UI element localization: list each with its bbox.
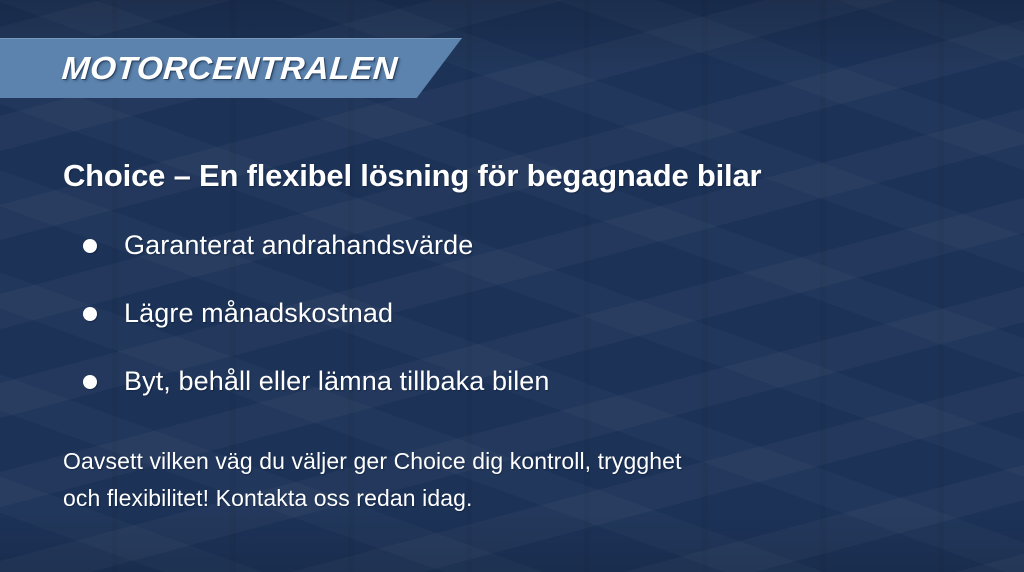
closing-paragraph: Oavsett vilken väg du väljer ger Choice … <box>63 443 682 517</box>
promo-slide: MOTORCENTRALEN Choice – En flexibel lösn… <box>0 0 1024 572</box>
closing-paragraph-line-1: Oavsett vilken väg du väljer ger Choice … <box>63 443 682 480</box>
slide-content: Choice – En flexibel lösning för begagna… <box>0 0 1024 572</box>
page-title: Choice – En flexibel lösning för begagna… <box>63 158 761 194</box>
closing-paragraph-line-2: och flexibilitet! Kontakta oss redan ida… <box>63 480 682 517</box>
bullet-dot-icon <box>83 375 97 389</box>
bullet-dot-icon <box>83 239 97 253</box>
benefits-list: Garanterat andrahandsvärde Lägre månadsk… <box>83 222 550 426</box>
list-item: Byt, behåll eller lämna tillbaka bilen <box>83 358 550 405</box>
list-item: Garanterat andrahandsvärde <box>83 222 550 269</box>
list-item: Lägre månadskostnad <box>83 290 550 337</box>
list-item-label: Garanterat andrahandsvärde <box>124 230 473 261</box>
list-item-label: Lägre månadskostnad <box>124 298 393 329</box>
bullet-dot-icon <box>83 307 97 321</box>
list-item-label: Byt, behåll eller lämna tillbaka bilen <box>124 366 550 397</box>
